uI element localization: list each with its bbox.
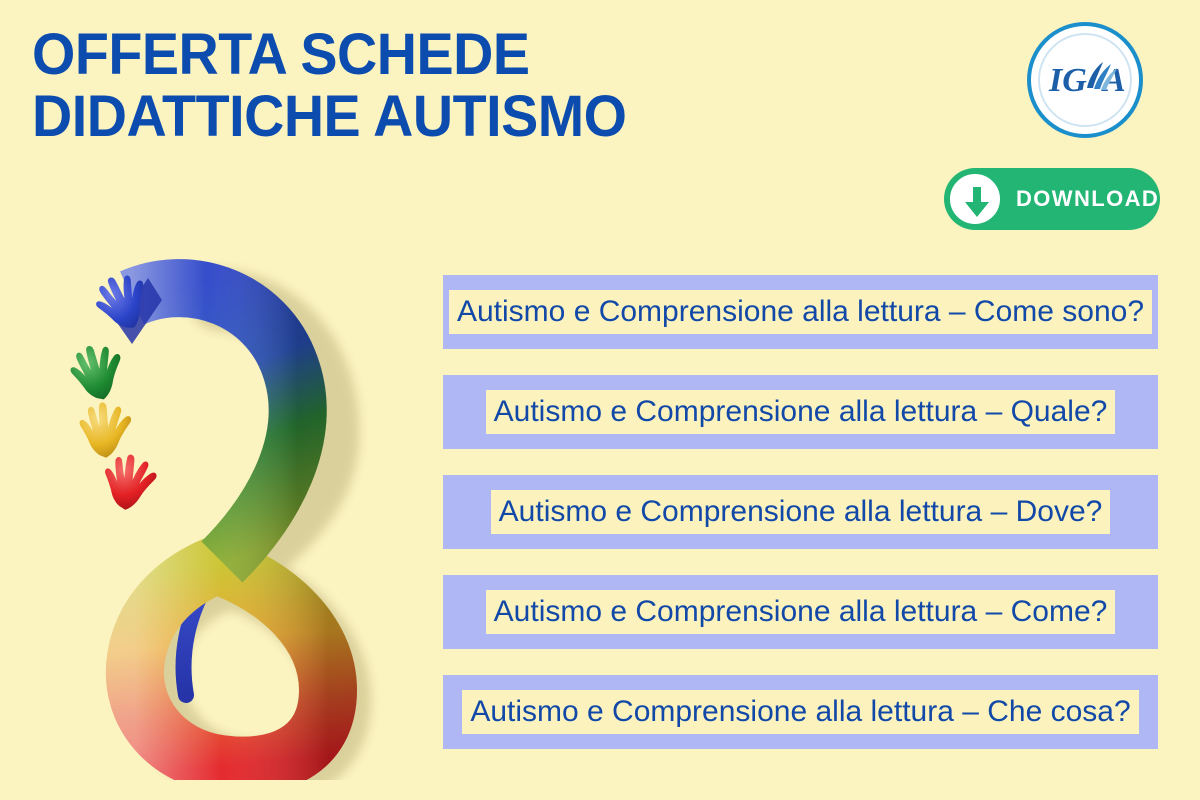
hand-yellow <box>77 401 132 459</box>
infinity-ribbon-graphic <box>40 240 380 780</box>
list-item-label: Autismo e Comprensione alla lettura – Do… <box>491 490 1111 534</box>
list-item[interactable]: Autismo e Comprensione alla lettura – Co… <box>443 275 1158 349</box>
svg-text:A: A <box>1101 62 1126 99</box>
download-label: DOWNLOAD <box>1016 168 1146 230</box>
igea-logo[interactable]: IG A <box>1027 22 1143 138</box>
list-item-label: Autismo e Comprensione alla lettura – Qu… <box>486 390 1116 434</box>
download-arrow-icon <box>963 185 991 219</box>
list-item[interactable]: Autismo e Comprensione alla lettura – Ch… <box>443 675 1158 749</box>
poster-canvas: OFFERTA SCHEDE DIDATTICHE AUTISMO IG A D… <box>0 0 1200 800</box>
list-item[interactable]: Autismo e Comprensione alla lettura – Qu… <box>443 375 1158 449</box>
logo-mark-icon: IG A <box>1027 22 1143 138</box>
title-line-1: OFFERTA SCHEDE <box>32 24 800 86</box>
title-line-2: DIDATTICHE AUTISMO <box>32 86 800 148</box>
download-icon-circle <box>946 170 1004 228</box>
list-item-label: Autismo e Comprensione alla lettura – Co… <box>449 290 1152 334</box>
hand-green <box>68 342 126 403</box>
list-item-label: Autismo e Comprensione alla lettura – Co… <box>486 590 1116 634</box>
hand-red <box>97 450 160 516</box>
list-item[interactable]: Autismo e Comprensione alla lettura – Co… <box>443 575 1158 649</box>
page-title: OFFERTA SCHEDE DIDATTICHE AUTISMO <box>32 24 832 148</box>
list-item[interactable]: Autismo e Comprensione alla lettura – Do… <box>443 475 1158 549</box>
svg-text:IG: IG <box>1048 62 1087 99</box>
download-button[interactable]: DOWNLOAD <box>944 168 1160 230</box>
list-item-label: Autismo e Comprensione alla lettura – Ch… <box>462 690 1138 734</box>
worksheet-list: Autismo e Comprensione alla lettura – Co… <box>443 275 1158 749</box>
